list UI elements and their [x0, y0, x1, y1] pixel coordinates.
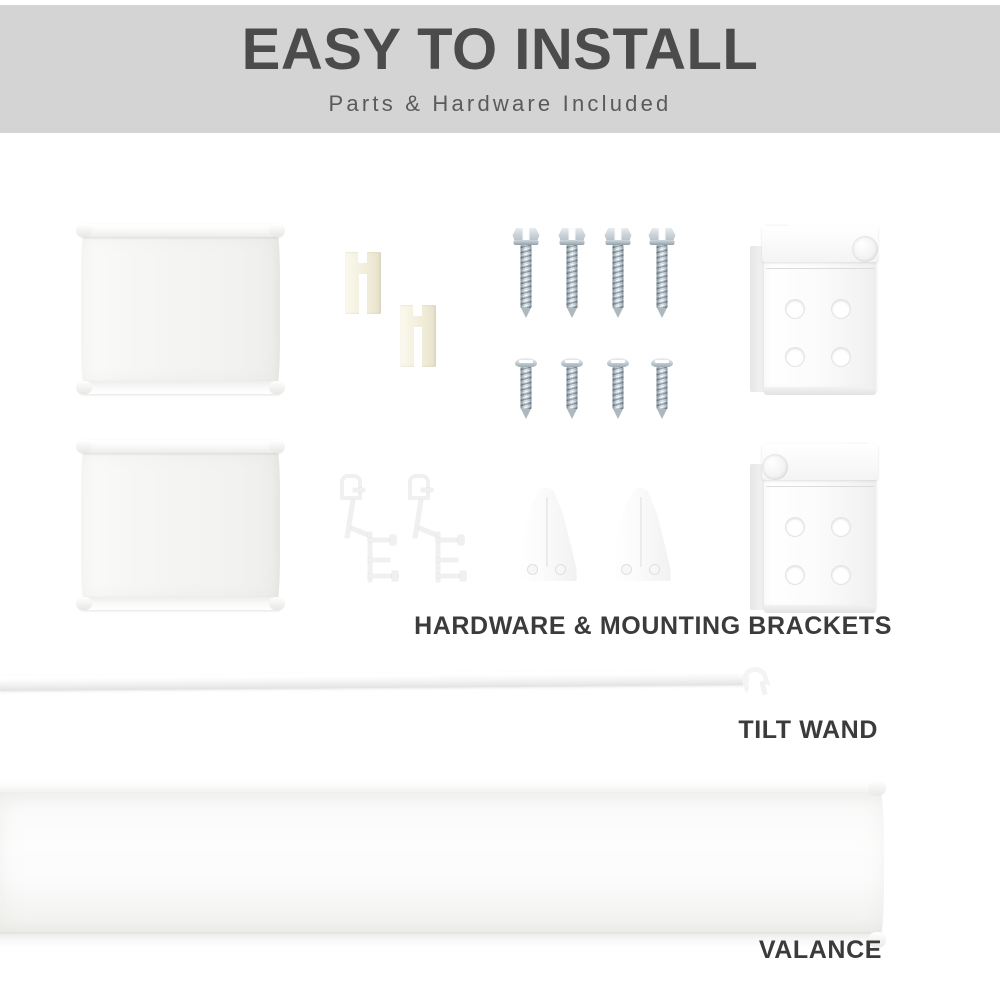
clip-hook-inner — [353, 488, 365, 492]
valance-return-right — [613, 487, 673, 581]
valance-clip-slot — [359, 274, 367, 315]
end-cap-nub — [269, 224, 285, 237]
bracket-screw-hole — [786, 300, 804, 318]
bracket-latch-icon — [852, 236, 878, 262]
bracket-face — [764, 242, 876, 392]
pan-head-screw — [560, 358, 584, 420]
bracket-bottom-lip — [764, 387, 876, 395]
screw-shaft — [567, 367, 578, 409]
clip-arm — [368, 558, 390, 562]
bracket-face — [764, 460, 876, 610]
screw-pan-head — [651, 358, 673, 367]
screw-hex-head — [513, 228, 540, 245]
valance-return-hole — [555, 564, 566, 575]
screw-shaft — [657, 245, 668, 308]
screw-shaft — [613, 245, 624, 308]
screw-tip — [613, 409, 623, 419]
screw-tip — [521, 308, 531, 318]
page-title: EASY TO INSTALL — [242, 21, 759, 81]
end-cap-nub — [76, 440, 92, 453]
screw-tip — [521, 409, 531, 419]
hex-head-screw — [512, 228, 540, 320]
bracket-crease — [766, 486, 874, 487]
end-cap-bottom-lip — [78, 381, 283, 394]
valance-clip-lower — [400, 305, 436, 367]
screw-tip — [657, 308, 667, 318]
screw-slot — [519, 360, 533, 363]
valance-return-ridge — [640, 497, 642, 567]
pan-head-screw — [606, 358, 630, 420]
screw-pan-head — [561, 358, 583, 367]
end-cap-bottom-lip — [78, 597, 283, 610]
valance-bottom-lip — [0, 934, 884, 948]
pan-head-screw — [650, 358, 674, 420]
valance-face — [0, 792, 884, 936]
hex-head-screw — [648, 228, 676, 320]
screw-shaft — [613, 367, 624, 409]
bracket-crease — [766, 268, 874, 269]
screw-pan-head — [607, 358, 629, 367]
clip-arm — [436, 558, 458, 562]
hardware-label: HARDWARE & MOUNTING BRACKETS — [414, 612, 892, 641]
clip-hook-inner — [421, 488, 433, 492]
screw-shaft — [521, 367, 532, 409]
headrail-end-cap-top — [78, 224, 283, 394]
end-cap-nub — [269, 597, 285, 610]
bracket-screw-hole — [786, 518, 804, 536]
screw-hex-head — [605, 228, 632, 245]
screw-tip — [567, 409, 577, 419]
clip-hook — [408, 474, 430, 500]
valance-return-hole — [649, 564, 660, 575]
clip-arm-tip — [390, 535, 396, 545]
headrail-end-cap-bottom — [78, 440, 283, 610]
mounting-bracket-left-latch — [748, 440, 886, 615]
clip-arm-tip — [392, 571, 398, 581]
clip-arm-tip — [460, 571, 466, 581]
screw-shaft — [521, 245, 532, 308]
valance-clip-notch — [358, 251, 367, 263]
bracket-screw-hole — [832, 566, 850, 584]
valance-clip-slot — [414, 327, 422, 368]
end-cap-nub — [76, 381, 92, 394]
valance-return-hole — [527, 564, 538, 575]
pan-head-screw — [514, 358, 538, 420]
end-cap-top-lip — [78, 224, 283, 237]
end-cap-nub — [76, 224, 92, 237]
screw-pan-head — [515, 358, 537, 367]
mounting-bracket-right-latch — [748, 222, 886, 397]
screw-tip — [567, 308, 577, 318]
screw-slot — [655, 360, 669, 363]
end-cap-top-lip — [78, 440, 283, 453]
valance-clip-upper — [345, 252, 381, 314]
bracket-screw-hole — [786, 348, 804, 366]
valance-return-ridge — [546, 497, 548, 567]
valance-clip-notch — [413, 304, 422, 316]
screw-hex-head — [559, 228, 586, 245]
valance-label: VALANCE — [759, 936, 882, 965]
screw-hex-head — [649, 228, 676, 245]
hex-head-screw — [604, 228, 632, 320]
screw-shaft — [567, 245, 578, 308]
end-cap-body — [81, 449, 280, 601]
bracket-latch-icon — [762, 454, 788, 480]
bracket-screw-hole — [832, 300, 850, 318]
tilt-wand-label: TILT WAND — [738, 716, 878, 745]
page-subtitle: Parts & Hardware Included — [329, 91, 672, 117]
wire-hold-down-clip-2 — [408, 474, 464, 584]
header-band: EASY TO INSTALL Parts & Hardware Include… — [0, 5, 1000, 133]
screw-tip — [657, 409, 667, 419]
end-cap-body — [81, 233, 280, 385]
clip-stem — [413, 500, 423, 538]
bracket-screw-hole — [832, 348, 850, 366]
valance-strip — [0, 780, 884, 948]
end-cap-nub — [269, 381, 285, 394]
wire-hold-down-clip-1 — [340, 474, 396, 584]
screw-slot — [611, 360, 625, 363]
screw-shaft — [657, 367, 668, 409]
valance-end-nub — [868, 780, 886, 796]
end-cap-nub — [76, 597, 92, 610]
clip-stem — [345, 500, 355, 538]
bracket-screw-hole — [786, 566, 804, 584]
hex-head-screw — [558, 228, 586, 320]
bracket-screw-hole — [832, 518, 850, 536]
screw-tip — [613, 308, 623, 318]
valance-return-hole — [621, 564, 632, 575]
end-cap-nub — [269, 440, 285, 453]
screw-slot — [565, 360, 579, 363]
infographic-page: EASY TO INSTALL Parts & Hardware Include… — [0, 0, 1000, 990]
clip-arm-tip — [458, 535, 464, 545]
valance-return-left — [519, 487, 579, 581]
clip-hook — [340, 474, 362, 500]
